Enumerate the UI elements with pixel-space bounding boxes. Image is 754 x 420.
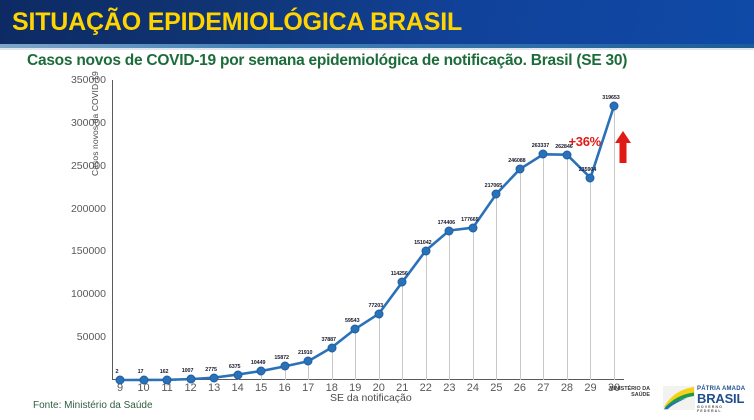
- data-point-marker: [586, 173, 595, 182]
- x-axis-tick-label: 25: [490, 382, 502, 394]
- ministry-label-line2: SAÚDE: [631, 392, 650, 398]
- source-note: Fonte: Ministério da Saúde: [33, 400, 153, 411]
- header-banner: SITUAÇÃO EPIDEMIOLÓGICA BRASIL: [0, 0, 754, 44]
- gridline-vertical: [496, 194, 497, 380]
- banner-accent-stripe-secondary: [0, 48, 754, 50]
- data-point-marker: [610, 102, 619, 111]
- data-point-marker: [280, 362, 289, 371]
- data-point-label: 235904: [579, 167, 596, 173]
- x-axis-tick-label: 14: [231, 382, 243, 394]
- x-axis-tick-label: 23: [443, 382, 455, 394]
- data-point-marker: [445, 226, 454, 235]
- logo-wordmark: PÁTRIA AMADA BRASIL GOVERNO FEDERAL: [697, 386, 747, 413]
- x-axis-tick-label: 16: [279, 382, 291, 394]
- data-point-label: 246088: [508, 158, 525, 164]
- data-point-marker: [492, 189, 501, 198]
- y-axis-tick-label: 250000: [71, 160, 110, 172]
- data-point-label: 1007: [182, 368, 194, 374]
- data-point-label: 263337: [532, 143, 549, 149]
- gridline-vertical: [449, 231, 450, 380]
- data-point-label: 77203: [369, 303, 384, 309]
- gridline-vertical: [473, 228, 474, 380]
- data-point-label: 21910: [298, 350, 313, 356]
- x-axis-tick-label: 28: [561, 382, 573, 394]
- slide-root: SITUAÇÃO EPIDEMIOLÓGICA BRASIL Casos nov…: [0, 0, 754, 420]
- gridline-vertical: [426, 251, 427, 380]
- gridline-vertical: [332, 348, 333, 380]
- x-axis-tick-label: 26: [514, 382, 526, 394]
- x-axis-tick-label: 13: [208, 382, 220, 394]
- up-arrow-icon: [614, 130, 632, 164]
- data-point-label: 2: [116, 369, 119, 375]
- x-axis-tick-label: 29: [584, 382, 596, 394]
- gridline-vertical: [567, 155, 568, 380]
- x-axis-tick-label: 17: [302, 382, 314, 394]
- data-point-marker: [163, 375, 172, 384]
- data-point-label: 10449: [251, 360, 266, 366]
- logo-line-governo-federal: GOVERNO FEDERAL: [697, 405, 747, 413]
- gridline-vertical: [520, 169, 521, 380]
- data-point-marker: [139, 376, 148, 385]
- x-axis-tick-label: 24: [467, 382, 479, 394]
- data-point-marker: [562, 150, 571, 159]
- growth-annotation-label: +36%: [568, 134, 600, 149]
- data-point-label: 114256: [391, 271, 408, 277]
- data-point-label: 319653: [602, 95, 619, 101]
- data-point-label: 6375: [229, 364, 241, 370]
- data-point-label: 15872: [274, 355, 289, 361]
- series-line: [112, 80, 624, 380]
- data-point-marker: [116, 376, 125, 385]
- gridline-vertical: [590, 178, 591, 380]
- y-axis-tick-label: 100000: [71, 288, 110, 300]
- data-point-marker: [257, 367, 266, 376]
- data-point-label: 17: [138, 369, 144, 375]
- gridline-vertical: [543, 154, 544, 380]
- data-point-label: 2775: [205, 367, 217, 373]
- data-point-marker: [327, 343, 336, 352]
- x-axis-tick-label: 12: [184, 382, 196, 394]
- x-axis-tick-label: 27: [537, 382, 549, 394]
- plot-area: Casos novos da COVID-19 +36% 50000100000…: [112, 80, 624, 380]
- data-point-marker: [186, 375, 195, 384]
- y-axis-tick-label: 50000: [77, 331, 110, 343]
- y-axis-tick-label: 350000: [71, 74, 110, 86]
- gridline-vertical: [614, 106, 615, 380]
- gridline-vertical: [355, 329, 356, 380]
- data-point-marker: [374, 309, 383, 318]
- data-point-label: 262846: [555, 144, 572, 150]
- chart-container: Casos novos da COVID-19 +36% 50000100000…: [0, 72, 754, 392]
- data-point-marker: [398, 278, 407, 287]
- data-point-marker: [539, 150, 548, 159]
- data-point-marker: [515, 165, 524, 174]
- x-axis-tick-label: 15: [255, 382, 267, 394]
- data-point-marker: [351, 324, 360, 333]
- y-axis-tick-label: 300000: [71, 117, 110, 129]
- page-title: SITUAÇÃO EPIDEMIOLÓGICA BRASIL: [12, 8, 462, 37]
- data-point-marker: [210, 373, 219, 382]
- ministry-label: MINISTÉRIO DA SAÚDE: [604, 386, 650, 399]
- data-point-label: 177665: [461, 217, 478, 223]
- gridline-vertical: [402, 282, 403, 380]
- y-axis-tick-label: 200000: [71, 203, 110, 215]
- gridline-vertical: [379, 314, 380, 380]
- chart-title: Casos novos de COVID-19 por semana epide…: [27, 52, 727, 70]
- data-point-marker: [468, 223, 477, 232]
- data-point-label: 59543: [345, 318, 360, 324]
- y-axis-tick-label: 150000: [71, 245, 110, 257]
- data-point-label: 217065: [485, 183, 502, 189]
- data-point-label: 37887: [321, 337, 336, 343]
- patria-amada-brasil-logo: PÁTRIA AMADA BRASIL GOVERNO FEDERAL: [663, 385, 747, 415]
- data-point-label: 162: [160, 369, 169, 375]
- data-point-label: 174406: [438, 220, 455, 226]
- x-axis-tick-label: 22: [420, 382, 432, 394]
- brasil-flag-swoosh-icon: [663, 385, 695, 411]
- data-point-marker: [304, 357, 313, 366]
- data-point-marker: [421, 246, 430, 255]
- data-point-marker: [233, 370, 242, 379]
- logo-line-brasil: BRASIL: [697, 392, 747, 405]
- x-axis-label: SE da notificação: [330, 392, 412, 404]
- data-point-label: 151042: [414, 240, 431, 246]
